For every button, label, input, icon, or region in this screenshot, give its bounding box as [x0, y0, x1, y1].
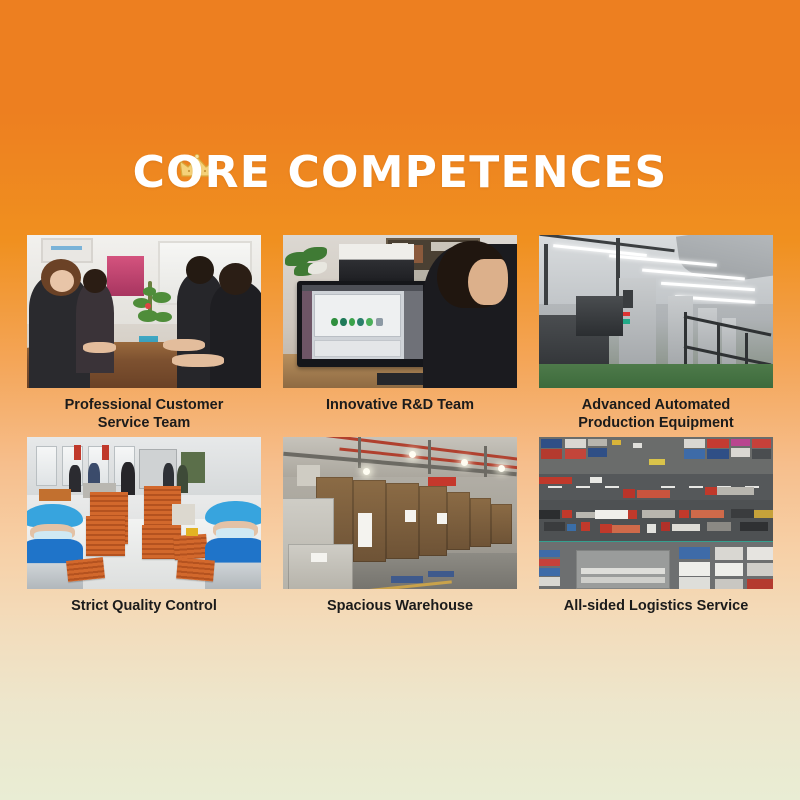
card-caption: Strict Quality Control	[27, 597, 261, 615]
warehouse-photo	[283, 437, 517, 589]
meeting-room-photo	[27, 235, 261, 388]
designer-at-computer-photo	[283, 235, 517, 388]
banner-header: CORE COMPETENCES	[0, 150, 800, 196]
printing-press-photo	[539, 235, 773, 388]
card-spacious-warehouse[interactable]: Spacious Warehouse	[283, 437, 517, 615]
page-title: CORE COMPETENCES	[133, 150, 668, 196]
aerial-container-yard-photo	[539, 437, 773, 589]
card-caption: Advanced Automated Production Equipment	[539, 396, 773, 432]
competence-grid: Professional Customer Service Team	[27, 235, 773, 615]
card-professional-customer-service-team[interactable]: Professional Customer Service Team	[27, 235, 261, 432]
card-all-sided-logistics-service[interactable]: All-sided Logistics Service	[539, 437, 773, 615]
card-caption: All-sided Logistics Service	[539, 597, 773, 615]
card-advanced-automated-production-equipment[interactable]: Advanced Automated Production Equipment	[539, 235, 773, 432]
card-caption: Spacious Warehouse	[283, 597, 517, 615]
quality-inspection-photo	[27, 437, 261, 589]
card-caption: Professional Customer Service Team	[27, 396, 261, 432]
card-strict-quality-control[interactable]: Strict Quality Control	[27, 437, 261, 615]
card-innovative-rd-team[interactable]: Innovative R&D Team	[283, 235, 517, 432]
card-caption: Innovative R&D Team	[283, 396, 517, 414]
